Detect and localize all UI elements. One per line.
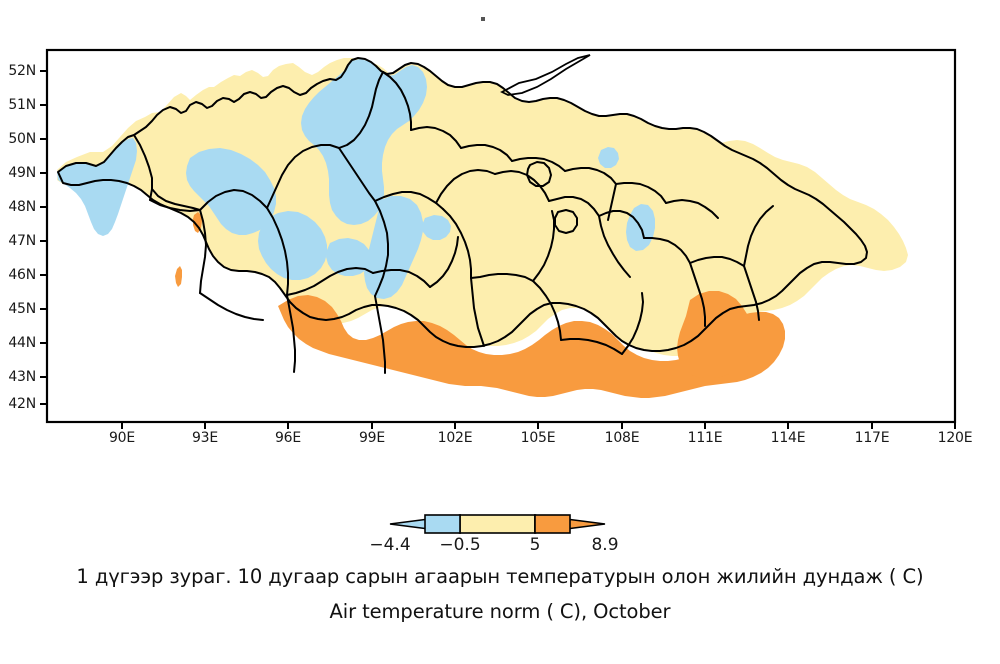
y-tick-label: 50N <box>0 131 36 147</box>
x-tick-label: 111E <box>675 430 735 446</box>
y-tick-label: 48N <box>0 199 36 215</box>
y-tick-label: 46N <box>0 267 36 283</box>
x-tick-label: 108E <box>592 430 652 446</box>
x-tick-label: 96E <box>258 430 318 446</box>
y-tick-label: 43N <box>0 369 36 385</box>
legend: −4.4 −0.5 5 8.9 <box>340 505 660 555</box>
figure-caption-mongolian: 1 дүгээр зураг. 10 дугаар сарын агаарын … <box>0 565 1000 588</box>
x-tick-label: 114E <box>758 430 818 446</box>
x-tick-label: 120E <box>925 430 985 446</box>
x-tick-label: 117E <box>842 430 902 446</box>
figure-caption-english: Air temperature norm ( C), October <box>0 600 1000 623</box>
x-tick-label: 90E <box>92 430 152 446</box>
y-tick-label: 52N <box>0 63 36 79</box>
y-tick-label: 47N <box>0 233 36 249</box>
x-tick-label: 99E <box>342 430 402 446</box>
x-tick-label: 93E <box>175 430 235 446</box>
legend-label-cold: −0.5 <box>425 535 495 555</box>
y-tick-label: 51N <box>0 97 36 113</box>
legend-label-max: 8.9 <box>570 535 640 555</box>
x-tick-label: 102E <box>425 430 485 446</box>
y-tick-label: 44N <box>0 335 36 351</box>
y-tick-label: 49N <box>0 165 36 181</box>
legend-label-min: −4.4 <box>355 535 425 555</box>
y-tick-label: 42N <box>0 396 36 412</box>
y-tick-label: 45N <box>0 301 36 317</box>
legend-label-warm: 5 <box>500 535 570 555</box>
x-tick-label: 105E <box>508 430 568 446</box>
figure-root: 52N 51N 50N 49N 48N 47N 46N 45N 44N 43N … <box>0 0 1000 664</box>
